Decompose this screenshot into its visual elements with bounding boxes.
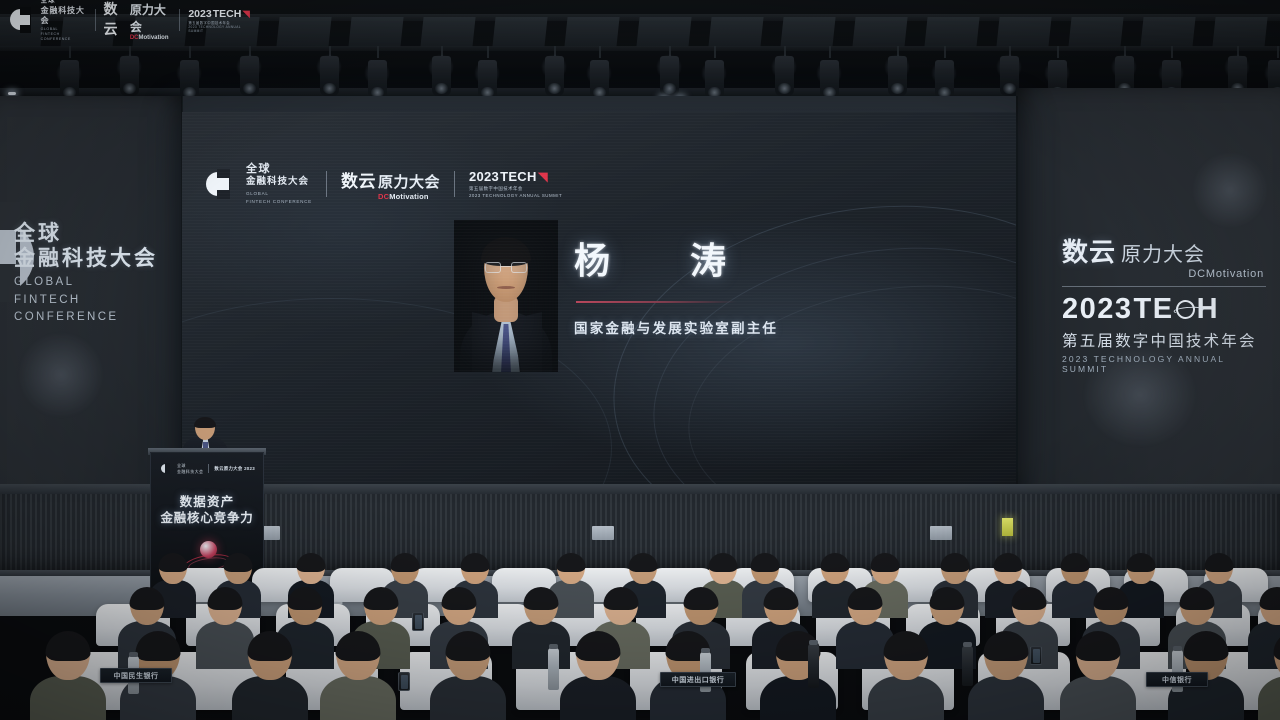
person-hair [1076,631,1121,661]
speaker-title: 国家金融与发展实验室副主任 [574,317,778,337]
truss-segment [492,17,547,47]
stage-light-fixture [432,56,451,96]
light-hanger [599,46,601,58]
fintech-mark-icon [10,7,33,33]
person-torso [760,676,836,720]
right-wall-shuyun: 数云 [1062,232,1116,269]
light-hanger [1057,46,1059,58]
thermos-flask [962,646,973,686]
audience-member [1258,632,1280,720]
orbit-ring-icon [1173,297,1198,322]
left-wall-branding: 全球 金融科技大会 GLOBAL FINTECH CONFERENCE [14,222,174,326]
overlay-shuyun: 数云 [104,0,128,39]
right-wall-branding: 数云 原力大会 DCMotivation 2023 TE H 第五届数字中国技术… [1062,232,1266,374]
stage-light-fixture [935,60,954,100]
person-torso [30,676,106,720]
screen-logo-year: 2023 [469,169,499,184]
screen-logo-divider-1 [326,171,327,197]
person-hair [442,587,477,610]
person-hair [130,587,165,610]
audience-member [430,632,506,720]
person-hair [764,587,799,610]
screen-logo-shuyun: 数云 [341,167,376,192]
stage-scene: 全球 金融科技大会 GLOBAL FINTECH CONFERENCE 数云 原… [0,0,1280,720]
podium-logo-lockup: 全球 金融科技大会 数云原力大会 2023 [161,463,255,474]
audience-member [560,632,636,720]
person-hair [288,587,323,610]
person-hair [224,553,253,572]
stage-light-fixture [180,60,199,100]
light-hanger [1171,46,1173,58]
person-hair [1274,631,1280,661]
person-torso [868,676,944,720]
person-hair [576,631,621,661]
truss-segment [420,17,475,47]
stage-light-fixture [545,56,564,96]
speaker-portrait [454,220,558,372]
stage-light-fixture [120,56,139,96]
truss-segment [924,17,979,47]
right-wall-tech-lockup: 2023 TE H [1062,293,1266,326]
light-hanger [714,46,716,58]
screen-logo-cn-big: 全球 [246,162,312,176]
person-hair [1205,553,1234,572]
audience-member [320,632,396,720]
person-hair [684,587,719,610]
overlay-yuanli: 原力大会 [130,1,172,35]
left-wall-en-line1: GLOBAL [14,274,174,291]
person-hair [984,631,1029,661]
audience-nameplate: 中国民生银行 [100,668,172,683]
person-hair [709,553,738,572]
person-hair [1127,553,1156,572]
audience-member [760,632,836,720]
broadcast-overlay-logo: 全球 金融科技大会 GLOBAL FINTECH CONFERENCE 数云 原… [0,0,250,40]
stage-light-fixture [820,60,839,100]
screen-logo-sub-en: 2023 TECHNOLOGY ANNUAL SUMMIT [469,193,562,198]
light-hanger [377,46,379,58]
screen-logo-dcmotivation: DCMotivation [378,192,440,201]
left-wall-cn-line2: 金融科技大会 [14,247,174,272]
person-hair [884,631,929,661]
truss-segment [996,17,1051,47]
audience-nameplate: 中信银行 [1146,672,1208,687]
screen-logo-lockup: 全球 金融科技大会 GLOBAL FINTECH CONFERENCE 数云 原… [206,162,562,206]
main-led-screen: 全球 金融科技大会 GLOBAL FINTECH CONFERENCE 数云 原… [182,112,1016,484]
light-hanger [69,46,71,58]
screen-logo-divider-2 [454,171,455,197]
overlay-year: 2023 [188,8,211,20]
podium-logo-divider [208,464,209,473]
smartphone [412,612,424,631]
right-wall-tech-left: TE [1134,293,1174,326]
overlay-cn-line2: 金融科技大会 [41,6,87,27]
speaker-name-rule [576,301,736,303]
stage-light-fixture [590,60,609,100]
truss-segment [564,17,619,47]
smartphone [1030,646,1042,665]
person-hair [848,587,883,610]
right-wall-en-sub: 2023 TECHNOLOGY ANNUAL SUMMIT [1062,354,1266,374]
person-hair [1180,587,1215,610]
speaker-name: 杨 涛 [574,232,778,284]
person-torso [320,676,396,720]
screen-logo-en2: FINTECH CONFERENCE [246,199,312,206]
audience-nameplate: 中国进出口银行 [660,672,736,687]
light-hanger [829,46,831,58]
screen-logo-fintech-text: 全球 金融科技大会 GLOBAL FINTECH CONFERENCE [246,162,312,206]
person-hair [159,553,188,572]
truss-segment [276,17,331,47]
screen-logo-cn-small: 金融科技大会 [246,176,309,187]
truss-segment [852,17,907,47]
truss-segment [1212,17,1267,47]
left-wall-cn-line1: 全球 [14,222,174,247]
overlay-tech: TECH [213,8,242,20]
overlay-en-line2: FINTECH CONFERENCE [41,32,87,43]
person-hair [1260,587,1280,610]
smartphone [398,672,410,691]
wall-seam-right [1016,96,1018,526]
person-hair [248,631,293,661]
truss-segment [636,17,691,47]
overlay-dcmotivation: DCMotivation [130,35,172,41]
light-hanger [1277,46,1279,58]
nebula-decor [1190,150,1270,230]
speaker-name-block: 杨 涛 国家金融与发展实验室副主任 [574,232,778,337]
person-hair [524,587,559,610]
truss-segment [1140,17,1195,47]
podium-logo-right: 数云原力大会 2023 [214,466,255,472]
person-hair [46,631,91,661]
person-torso [430,676,506,720]
stage-light-fixture [60,60,79,100]
person-hair [1184,631,1229,661]
stage-light-fixture [368,60,387,100]
fintech-mark-icon [206,169,236,199]
dc-rest-text: Motivation [138,35,168,41]
nebula-decor [16,330,106,420]
stage-light-fixture [660,56,679,96]
person-hair [604,587,639,610]
person-hair [930,587,965,610]
screen-logo-tech: TECH [500,169,537,184]
dc-red-text: DC [378,192,389,201]
stage-light-fixture [888,56,907,96]
swoosh-icon: ◥ [538,169,548,185]
person-hair [751,553,780,572]
stage-light-fixture [775,56,794,96]
person-hair [821,553,850,572]
fintech-mark-icon [161,463,172,474]
light-hanger [944,46,946,58]
stage-light-fixture [478,60,497,100]
audience-member [30,632,106,720]
person-hair [1012,587,1047,610]
stage-light-fixture [240,56,259,96]
person-hair [941,553,970,572]
screen-logo-sub-cn: 第五届数字中国技术年会 [469,186,562,192]
person-hair [1061,553,1090,572]
right-wall-cn-sub: 第五届数字中国技术年会 [1062,329,1266,351]
thermos-flask [808,644,819,688]
person-torso [1060,676,1136,720]
podium-logo-en: 金融科技大会 [177,469,203,474]
person-hair [446,631,491,661]
person-hair [461,553,490,572]
person-hair [871,553,900,572]
person-torso [232,676,308,720]
light-spec-dot [8,92,16,95]
person-hair [629,553,658,572]
audience-member [232,632,308,720]
person-hair [208,587,243,610]
stage-light-fixture [705,60,724,100]
light-hanger [487,46,489,58]
audience-member [1060,632,1136,720]
swoosh-icon: ◥ [242,9,250,20]
truss-segment [1068,17,1123,47]
right-wall-yuanli: 原力大会 [1121,238,1205,267]
right-wall-divider [1062,286,1266,287]
overlay-divider-2 [179,9,180,31]
right-wall-dcmotivation: DCMotivation [1062,268,1266,280]
person-hair [364,587,399,610]
light-hanger [189,46,191,58]
truss-segment [780,17,835,47]
person-hair [994,553,1023,572]
person-hair [297,553,326,572]
person-hair [336,631,381,661]
overlay-fintech-text: 全球 金融科技大会 GLOBAL FINTECH CONFERENCE [41,0,87,43]
stage-light-fixture [320,56,339,96]
person-torso [968,676,1044,720]
dc-rest-text: Motivation [389,192,429,201]
left-wall-en-line2: FINTECH CONFERENCE [14,292,174,325]
right-wall-year: 2023 [1062,293,1133,326]
person-torso [560,676,636,720]
screen-logo-en1: GLOBAL [246,191,312,198]
water-bottle [548,648,559,690]
person-torso [1258,676,1280,720]
truss-segment [708,17,763,47]
person-hair [557,553,586,572]
truss-segment [348,17,403,47]
person-hair [136,631,181,661]
person-hair [1094,587,1129,610]
audience-area [0,520,1280,720]
audience-member [868,632,944,720]
person-hair [391,553,420,572]
overlay-divider-1 [95,9,96,31]
screen-logo-yuanli: 原力大会 [378,171,440,192]
overlay-sub-en: 2023 TECHNOLOGY ANNUAL SUMMIT [188,25,250,33]
